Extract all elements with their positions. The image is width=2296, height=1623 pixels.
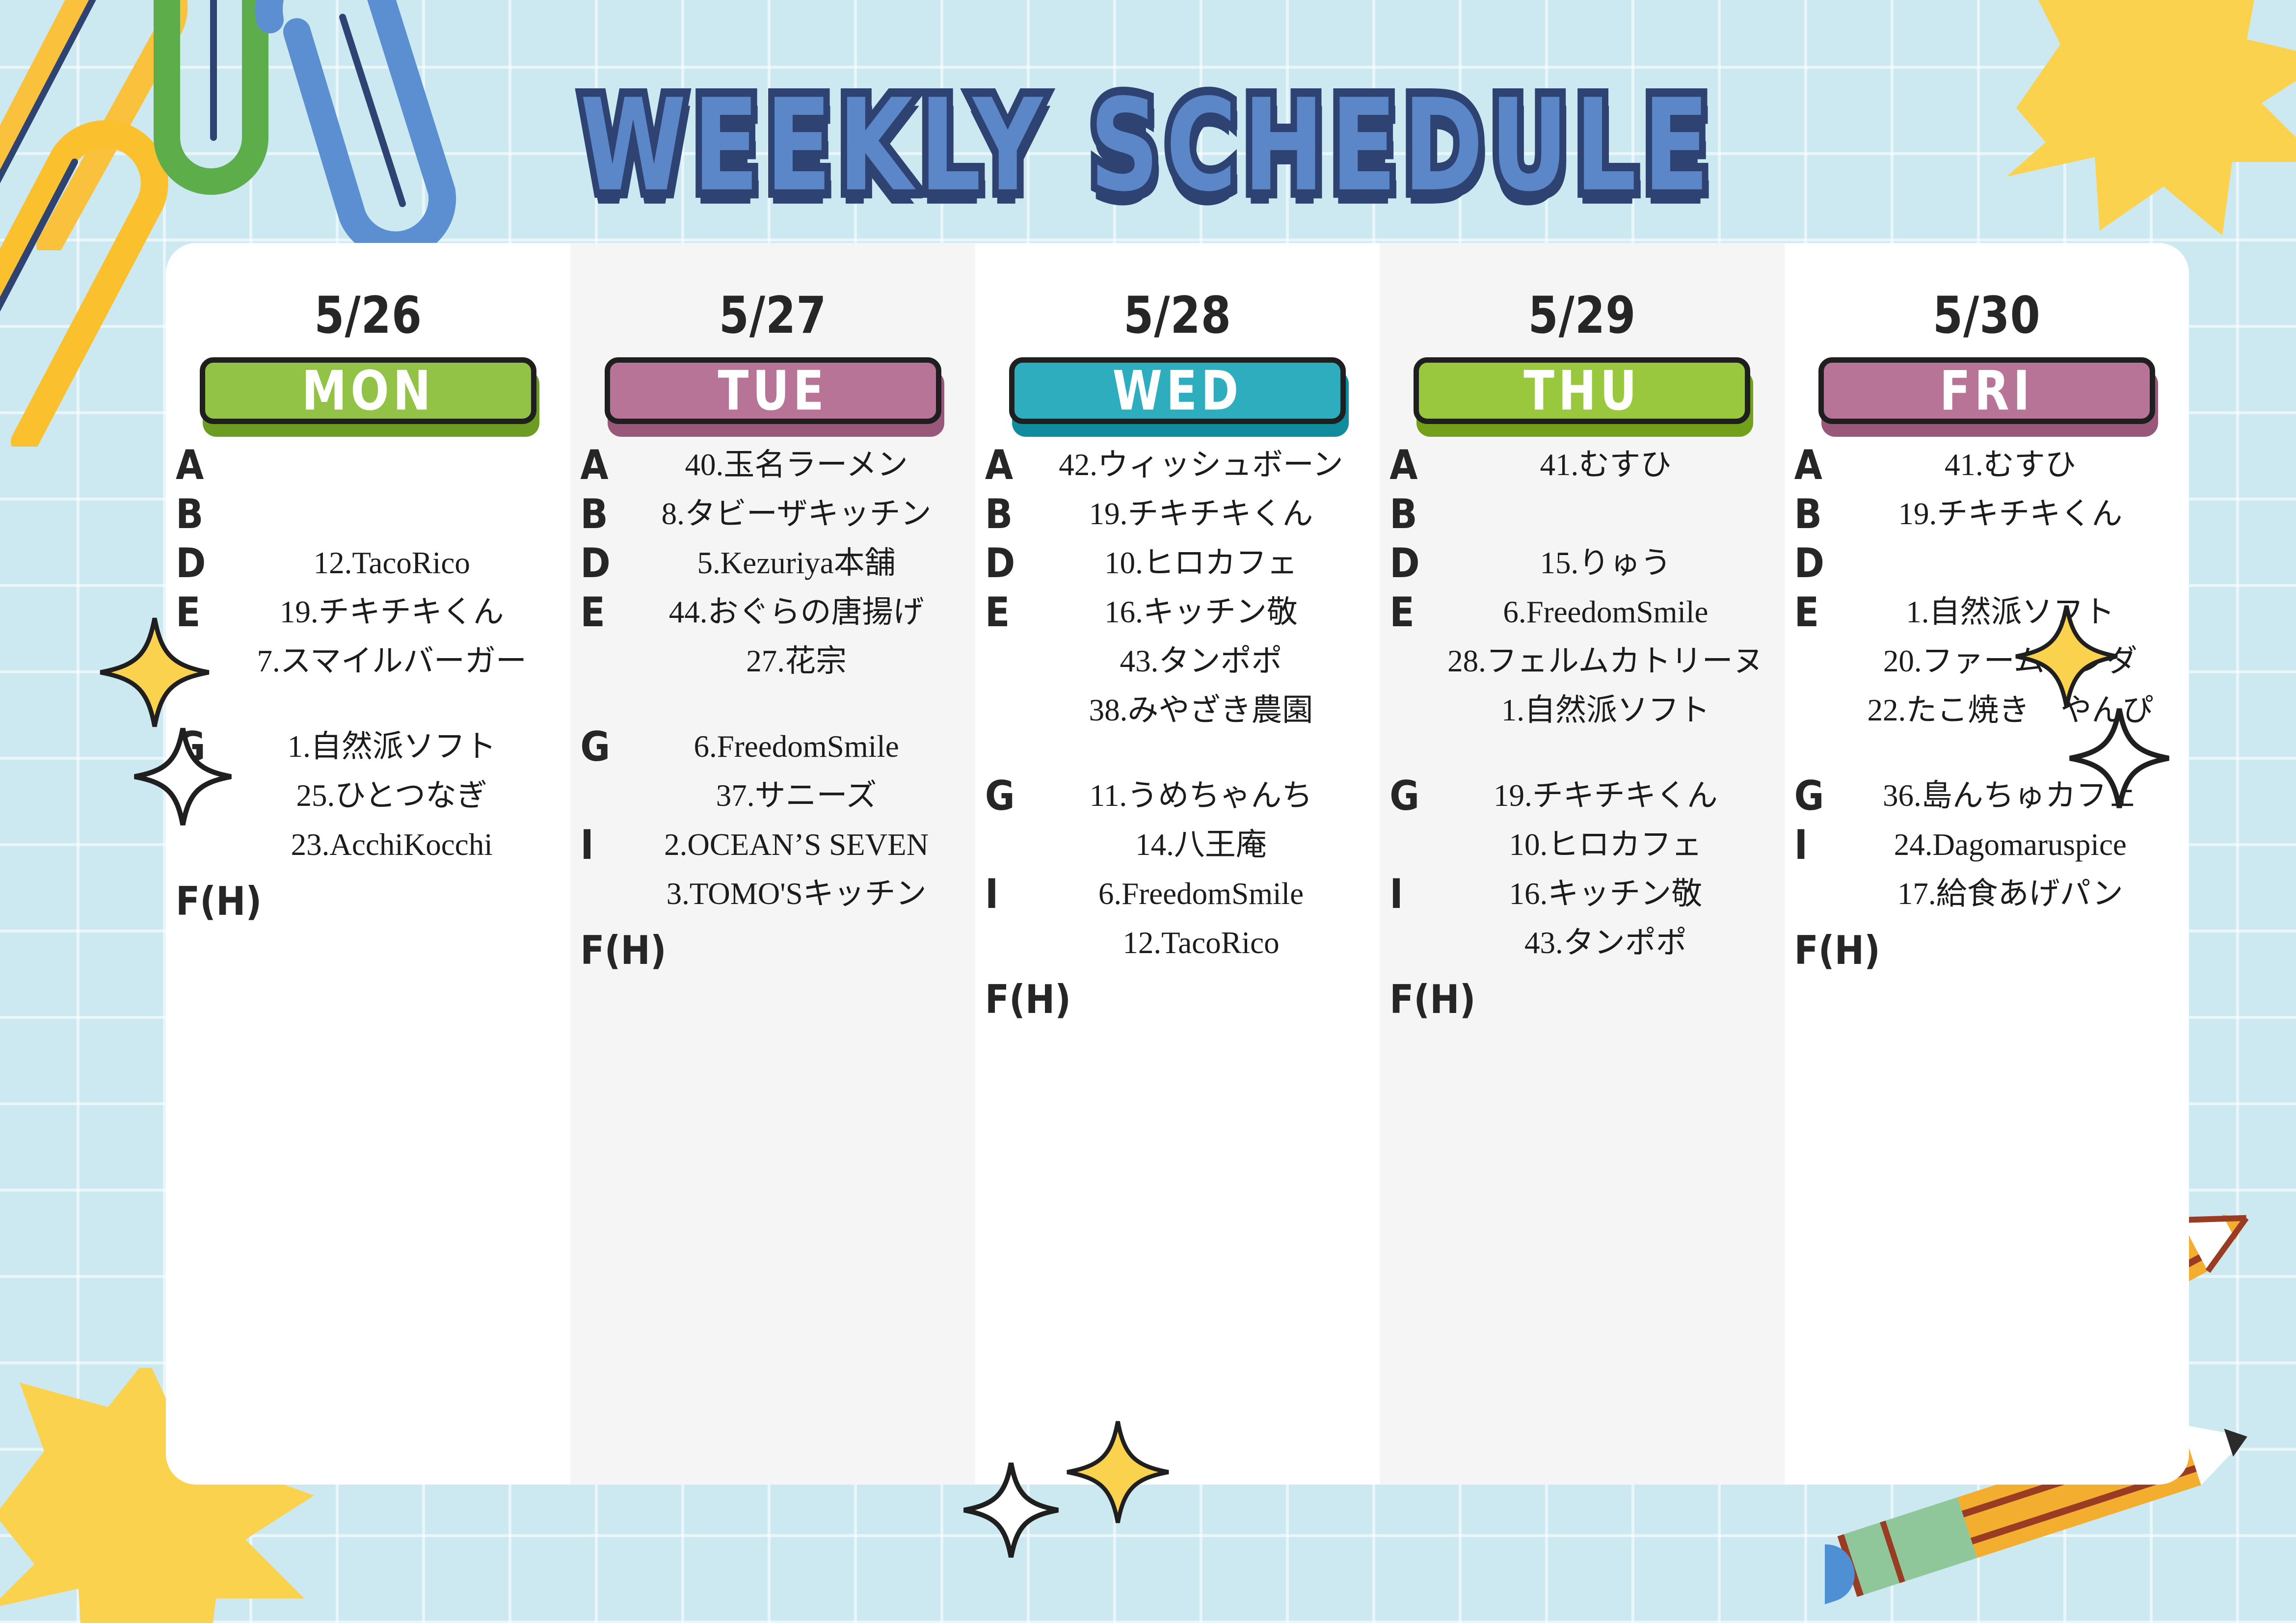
row-key: B xyxy=(580,494,627,535)
day-column-mon: 5/26MONABD12.TacoRicoE19.チキチキくん7.スマイルバーガ… xyxy=(166,243,570,1485)
schedule-row[interactable]: G19.チキチキくん xyxy=(1387,772,1777,821)
schedule-row[interactable]: D10.ヒロカフェ xyxy=(982,539,1373,588)
row-key: B xyxy=(985,494,1032,535)
row-value: 19.チキチキくん xyxy=(1032,497,1370,531)
row-value: 6.FreedomSmile xyxy=(1437,595,1774,629)
row-value: 2.OCEAN’S SEVEN xyxy=(627,828,965,862)
schedule-row[interactable]: D15.りゅう xyxy=(1387,539,1777,588)
day-column-wed: 5/28WEDA42.ウィッシュボーンB19.チキチキくんD10.ヒロカフェE1… xyxy=(975,243,1380,1485)
row-value: 27.花宗 xyxy=(627,644,965,678)
row-value: 16.キッチン敬 xyxy=(1437,877,1774,911)
row-value: 1.自然派ソフト xyxy=(223,730,561,764)
schedule-row[interactable]: D xyxy=(1791,539,2182,588)
day-badge-label: MON xyxy=(302,359,435,422)
schedule-row[interactable]: B19.チキチキくん xyxy=(982,490,1373,539)
row-key: G xyxy=(1389,776,1437,817)
row-value: 1.自然派ソフト xyxy=(1842,595,2179,629)
day-badge-label: FRI xyxy=(1940,359,2034,422)
row-key: G xyxy=(580,727,627,768)
schedule-row[interactable]: 23.AcchiKocchi xyxy=(173,821,563,870)
column-footer: F(H) xyxy=(982,976,1373,1022)
day-badge-wed[interactable]: WED xyxy=(1009,357,1346,424)
row-key: D xyxy=(1389,543,1437,584)
row-value: 23.AcchiKocchi xyxy=(223,828,561,862)
row-value: 43.タンポポ xyxy=(1437,926,1774,960)
schedule-row[interactable]: G1.自然派ソフト xyxy=(173,722,563,772)
schedule-row[interactable]: I2.OCEAN’S SEVEN xyxy=(577,821,968,870)
row-key: I xyxy=(176,776,223,817)
column-footer: F(H) xyxy=(1387,976,1777,1022)
schedule-row[interactable]: 7.スマイルバーガー xyxy=(173,637,563,686)
row-key: G xyxy=(176,727,223,768)
day-column-fri: 5/30FRIA41.むすひB19.チキチキくんDE1.自然派ソフト20.ファー… xyxy=(1785,243,2189,1485)
row-value: 19.チキチキくん xyxy=(223,595,561,629)
row-key: I xyxy=(1794,825,1842,866)
date-label: 5/27 xyxy=(577,285,968,345)
day-badge-label: TUE xyxy=(718,359,828,422)
row-key: I xyxy=(1389,874,1437,915)
row-value: 22.たこ焼き やんぴ xyxy=(1842,693,2179,727)
row-key: A xyxy=(985,445,1032,486)
row-key: D xyxy=(580,543,627,584)
day-column-tue: 5/27TUEA40.玉名ラーメンB8.タビーザキッチンD5.Kezuriya本… xyxy=(570,243,975,1485)
schedule-row[interactable]: E19.チキチキくん xyxy=(173,588,563,637)
schedule-row[interactable]: G6.FreedomSmile xyxy=(577,722,968,772)
row-value: 37.サニーズ xyxy=(627,779,965,813)
row-value: 28.フェルムカトリーヌ xyxy=(1437,644,1774,678)
schedule-rows: A41.むすひB19.チキチキくんDE1.自然派ソフト20.ファームヨシダ22.… xyxy=(1791,441,2182,919)
row-value: 6.FreedomSmile xyxy=(1032,877,1370,911)
row-value: 41.むすひ xyxy=(1437,448,1774,482)
schedule-row[interactable]: I25.ひとつなぎ xyxy=(173,772,563,821)
day-badge-wrapper: THU xyxy=(1414,357,1750,424)
row-key: E xyxy=(176,592,223,633)
row-key: B xyxy=(1794,494,1842,535)
schedule-rows: A42.ウィッシュボーンB19.チキチキくんD10.ヒロカフェE16.キッチン敬… xyxy=(982,441,1373,968)
day-badge-label: WED xyxy=(1113,359,1243,422)
schedule-card: 5/26MONABD12.TacoRicoE19.チキチキくん7.スマイルバーガ… xyxy=(166,243,2189,1485)
schedule-row[interactable]: E16.キッチン敬 xyxy=(982,588,1373,637)
day-column-thu: 5/29THUA41.むすひBD15.りゅうE6.FreedomSmile28.… xyxy=(1380,243,1784,1485)
schedule-row[interactable]: 12.TacoRico xyxy=(982,919,1373,968)
schedule-row[interactable]: 1.自然派ソフト xyxy=(1387,686,1777,735)
schedule-row[interactable]: 38.みやざき農園 xyxy=(982,686,1373,735)
row-value: 6.FreedomSmile xyxy=(627,730,965,764)
schedule-row[interactable]: D5.Kezuriya本舗 xyxy=(577,539,968,588)
schedule-rows: A41.むすひBD15.りゅうE6.FreedomSmile28.フェルムカトリ… xyxy=(1387,441,1777,968)
row-value: 43.タンポポ xyxy=(1032,644,1370,678)
schedule-row[interactable]: B19.チキチキくん xyxy=(1791,490,2182,539)
schedule-row[interactable]: A40.玉名ラーメン xyxy=(577,441,968,490)
day-badge-thu[interactable]: THU xyxy=(1414,357,1750,424)
schedule-row[interactable]: E44.おぐらの唐揚げ xyxy=(577,588,968,637)
schedule-row[interactable]: D12.TacoRico xyxy=(173,539,563,588)
schedule-rows: ABD12.TacoRicoE19.チキチキくん7.スマイルバーガーG1.自然派… xyxy=(173,441,563,870)
schedule-row[interactable]: 10.ヒロカフェ xyxy=(1387,821,1777,870)
schedule-row[interactable]: A42.ウィッシュボーン xyxy=(982,441,1373,490)
row-key: I xyxy=(580,825,627,866)
row-key: D xyxy=(176,543,223,584)
day-badge-fri[interactable]: FRI xyxy=(1818,357,2155,424)
schedule-row[interactable]: B xyxy=(1387,490,1777,539)
row-value: 20.ファームヨシダ xyxy=(1842,644,2179,678)
day-badge-tue[interactable]: TUE xyxy=(605,357,941,424)
row-spacer xyxy=(577,686,968,722)
row-key: B xyxy=(1389,494,1437,535)
schedule-row[interactable]: 43.タンポポ xyxy=(982,637,1373,686)
column-footer: F(H) xyxy=(1791,927,2182,973)
schedule-row[interactable]: 14.八王庵 xyxy=(982,821,1373,870)
schedule-row[interactable]: 43.タンポポ xyxy=(1387,919,1777,968)
row-key: E xyxy=(1389,592,1437,633)
schedule-row[interactable]: 20.ファームヨシダ xyxy=(1791,637,2182,686)
row-value: 1.自然派ソフト xyxy=(1437,693,1774,727)
row-value: 19.チキチキくん xyxy=(1842,497,2179,531)
row-value: 44.おぐらの唐揚げ xyxy=(627,595,965,629)
row-key: G xyxy=(1794,776,1842,817)
schedule-row[interactable]: A xyxy=(173,441,563,490)
row-value: 17.給食あげパン xyxy=(1842,877,2179,911)
row-value: 12.TacoRico xyxy=(223,546,561,580)
row-value: 15.りゅう xyxy=(1437,546,1774,580)
row-key: E xyxy=(1794,592,1842,633)
row-value: 14.八王庵 xyxy=(1032,828,1370,862)
row-value: 7.スマイルバーガー xyxy=(223,644,561,678)
row-value: 10.ヒロカフェ xyxy=(1032,546,1370,580)
schedule-row[interactable]: E6.FreedomSmile xyxy=(1387,588,1777,637)
schedule-row[interactable]: I16.キッチン敬 xyxy=(1387,870,1777,919)
row-value: 40.玉名ラーメン xyxy=(627,448,965,482)
row-key: G xyxy=(985,776,1032,817)
row-value: 25.ひとつなぎ xyxy=(223,779,561,813)
day-badge-label: THU xyxy=(1523,359,1640,422)
schedule-row[interactable]: B xyxy=(173,490,563,539)
schedule-row[interactable]: 28.フェルムカトリーヌ xyxy=(1387,637,1777,686)
date-label: 5/30 xyxy=(1791,285,2182,345)
column-footer: F(H) xyxy=(577,927,968,973)
row-value: 36.島んちゅカフェ xyxy=(1842,779,2179,813)
row-key: D xyxy=(1794,543,1842,584)
row-value: 41.むすひ xyxy=(1842,448,2179,482)
row-key: A xyxy=(176,445,223,486)
schedule-row[interactable]: 37.サニーズ xyxy=(577,772,968,821)
day-badge-wrapper: MON xyxy=(200,357,536,424)
page-title-container: WEEKLY SCHEDULE xyxy=(0,82,2296,179)
row-key: A xyxy=(1794,445,1842,486)
column-footer: F(H) xyxy=(173,878,563,924)
row-key: E xyxy=(985,592,1032,633)
schedule-row[interactable]: 3.TOMO'Sキッチン xyxy=(577,870,968,919)
row-value: 5.Kezuriya本舗 xyxy=(627,546,965,580)
date-label: 5/26 xyxy=(173,285,563,345)
day-badge-mon[interactable]: MON xyxy=(200,357,536,424)
day-badge-wrapper: WED xyxy=(1009,357,1346,424)
schedule-row[interactable]: A41.むすひ xyxy=(1387,441,1777,490)
row-value: 42.ウィッシュボーン xyxy=(1032,448,1370,482)
row-key: A xyxy=(1389,445,1437,486)
row-value: 16.キッチン敬 xyxy=(1032,595,1370,629)
row-key: I xyxy=(985,874,1032,915)
row-value: 38.みやざき農園 xyxy=(1032,693,1370,727)
schedule-row[interactable]: B8.タビーザキッチン xyxy=(577,490,968,539)
row-key: B xyxy=(176,494,223,535)
row-key: D xyxy=(985,543,1032,584)
schedule-row[interactable]: 17.給食あげパン xyxy=(1791,870,2182,919)
schedule-row[interactable]: I6.FreedomSmile xyxy=(982,870,1373,919)
row-value: 24.Dagomaruspice xyxy=(1842,828,2179,862)
row-spacer xyxy=(1387,735,1777,772)
schedule-row[interactable]: I24.Dagomaruspice xyxy=(1791,821,2182,870)
date-label: 5/28 xyxy=(982,285,1373,345)
day-badge-wrapper: TUE xyxy=(605,357,941,424)
row-key: E xyxy=(580,592,627,633)
row-value: 12.TacoRico xyxy=(1032,926,1370,960)
row-spacer xyxy=(1791,735,2182,772)
schedule-rows: A40.玉名ラーメンB8.タビーザキッチンD5.Kezuriya本舗E44.おぐ… xyxy=(577,441,968,919)
row-key: A xyxy=(580,445,627,486)
schedule-row[interactable]: G11.うめちゃんち xyxy=(982,772,1373,821)
schedule-row[interactable]: G36.島んちゅカフェ xyxy=(1791,772,2182,821)
page-title: WEEKLY SCHEDULE xyxy=(580,82,1716,210)
row-value: 3.TOMO'Sキッチン xyxy=(627,877,965,911)
schedule-row[interactable]: A41.むすひ xyxy=(1791,441,2182,490)
schedule-row[interactable]: 22.たこ焼き やんぴ xyxy=(1791,686,2182,735)
row-spacer xyxy=(982,735,1373,772)
row-value: 11.うめちゃんち xyxy=(1032,779,1370,813)
row-value: 10.ヒロカフェ xyxy=(1437,828,1774,862)
schedule-row[interactable]: E1.自然派ソフト xyxy=(1791,588,2182,637)
date-label: 5/29 xyxy=(1387,285,1777,345)
day-badge-wrapper: FRI xyxy=(1818,357,2155,424)
row-value: 19.チキチキくん xyxy=(1437,779,1774,813)
poster-canvas: WEEKLY SCHEDULE 5/26MONABD12.TacoRicoE19… xyxy=(0,0,2296,1623)
row-spacer xyxy=(173,686,563,722)
row-value: 8.タビーザキッチン xyxy=(627,497,965,531)
schedule-row[interactable]: 27.花宗 xyxy=(577,637,968,686)
